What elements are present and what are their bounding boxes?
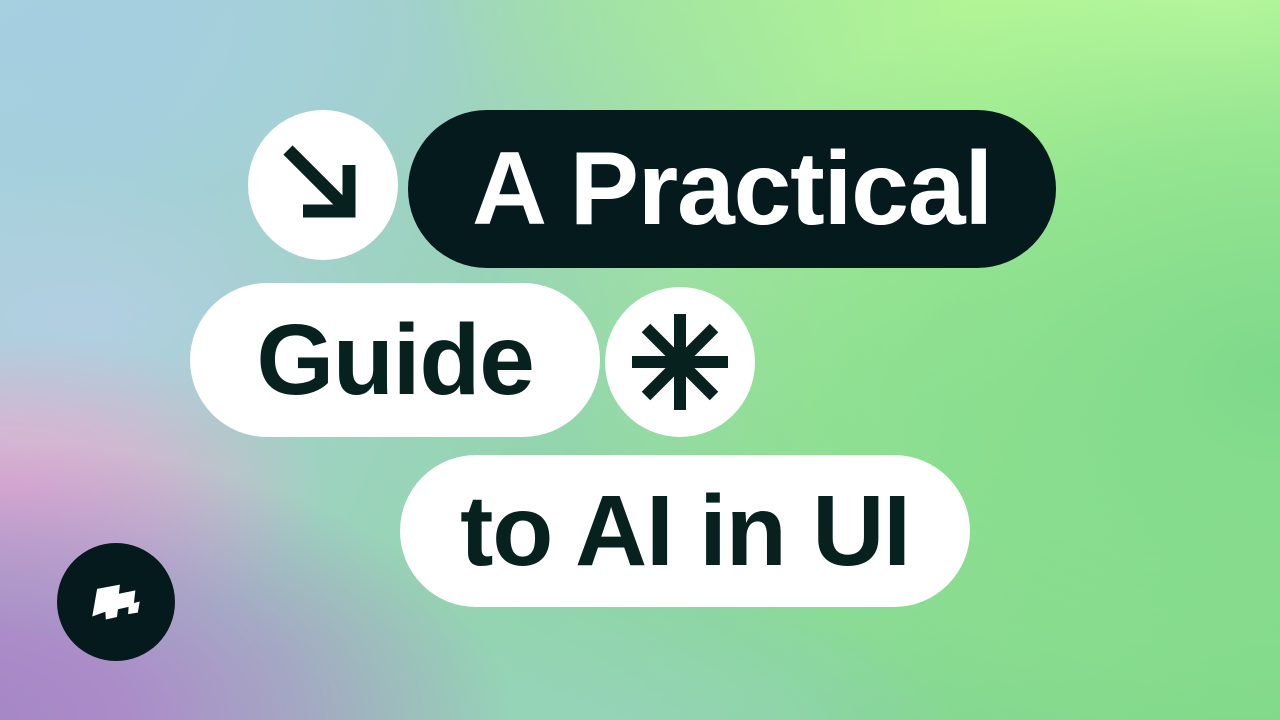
headline-line-1-text: A Practical	[472, 137, 992, 241]
asterisk-star-icon	[628, 310, 732, 414]
brand-logo[interactable]	[57, 543, 175, 661]
lightning-bolt-logo-icon	[85, 571, 147, 633]
slide-canvas: A Practical Guide to AI in UI	[0, 0, 1280, 720]
arrow-down-right-icon	[277, 139, 369, 231]
headline-line-2-text: Guide	[256, 310, 533, 410]
headline-line-3-text: to AI in UI	[460, 481, 910, 581]
arrow-down-right-badge	[248, 110, 398, 260]
asterisk-badge	[605, 287, 755, 437]
headline-line-1-pill: A Practical	[408, 110, 1056, 268]
headline-line-2-pill: Guide	[190, 283, 600, 437]
headline-line-3-pill: to AI in UI	[400, 455, 970, 607]
